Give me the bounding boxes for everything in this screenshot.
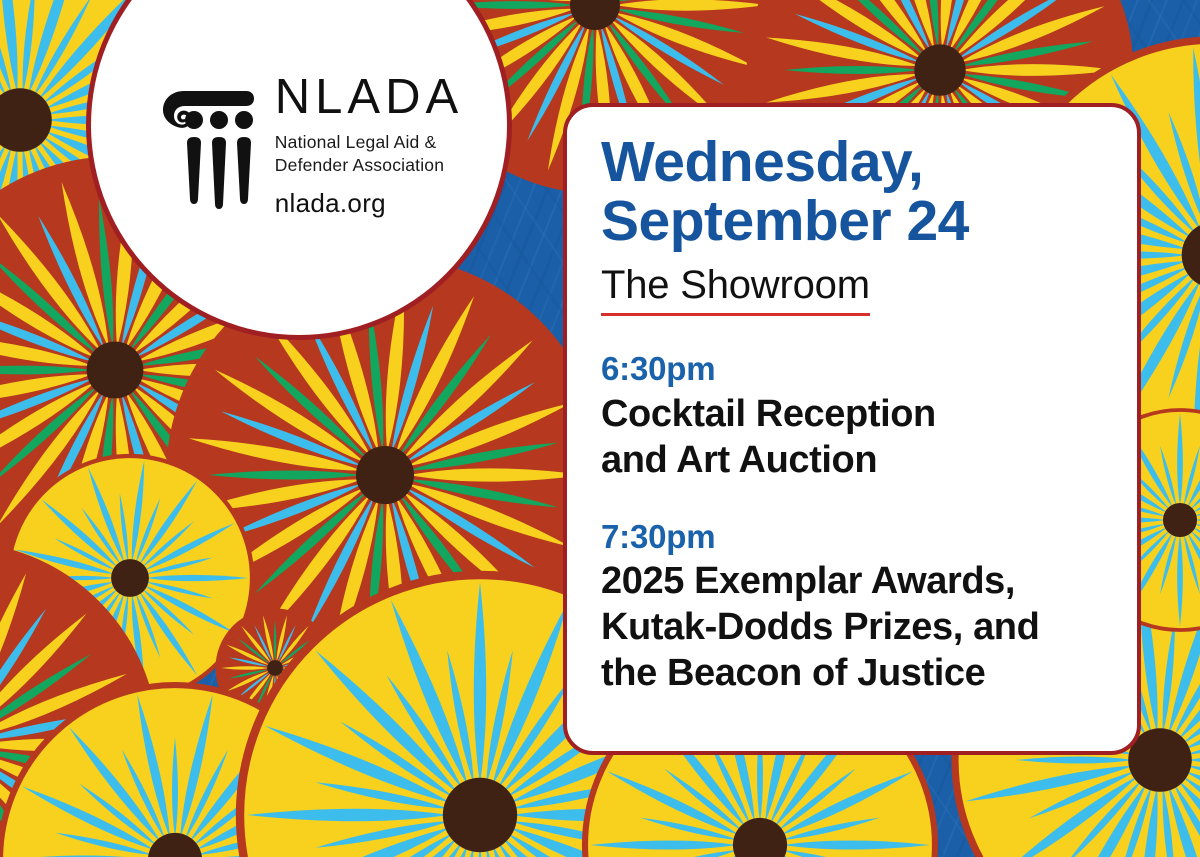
slot-2-title-line-2: Kutak-Dodds Prizes, and xyxy=(601,605,1103,651)
nlada-logo-bubble: NLADA National Legal Aid & Defender Asso… xyxy=(86,0,512,340)
slot-1-time: 6:30pm xyxy=(601,350,1103,388)
event-date-line-1: Wednesday, xyxy=(601,133,1103,192)
nlada-column-icon xyxy=(145,80,257,212)
slot-1-title-line-2: and Art Auction xyxy=(601,438,1103,484)
slot-2-time: 7:30pm xyxy=(601,518,1103,556)
logo-url: nlada.org xyxy=(275,188,463,219)
event-poster: NLADA National Legal Aid & Defender Asso… xyxy=(0,0,1200,857)
event-date-line-2: September 24 xyxy=(601,192,1103,251)
event-info-card: Wednesday, September 24 The Showroom 6:3… xyxy=(563,103,1141,755)
logo-subtitle-line1: National Legal Aid & xyxy=(275,131,463,153)
venue-wrapper: The Showroom xyxy=(601,262,870,316)
logo-subtitle-line2: Defender Association xyxy=(275,154,463,176)
event-venue: The Showroom xyxy=(601,262,870,316)
slot-2-title-line-3: the Beacon of Justice xyxy=(601,651,1103,697)
logo-title: NLADA xyxy=(275,73,463,122)
slot-1-title-line-1: Cocktail Reception xyxy=(601,392,1103,438)
schedule-slot-2: 7:30pm 2025 Exemplar Awards, Kutak-Dodds… xyxy=(601,518,1103,697)
schedule-slot-1: 6:30pm Cocktail Reception and Art Auctio… xyxy=(601,350,1103,483)
slot-2-title-line-1: 2025 Exemplar Awards, xyxy=(601,559,1103,605)
